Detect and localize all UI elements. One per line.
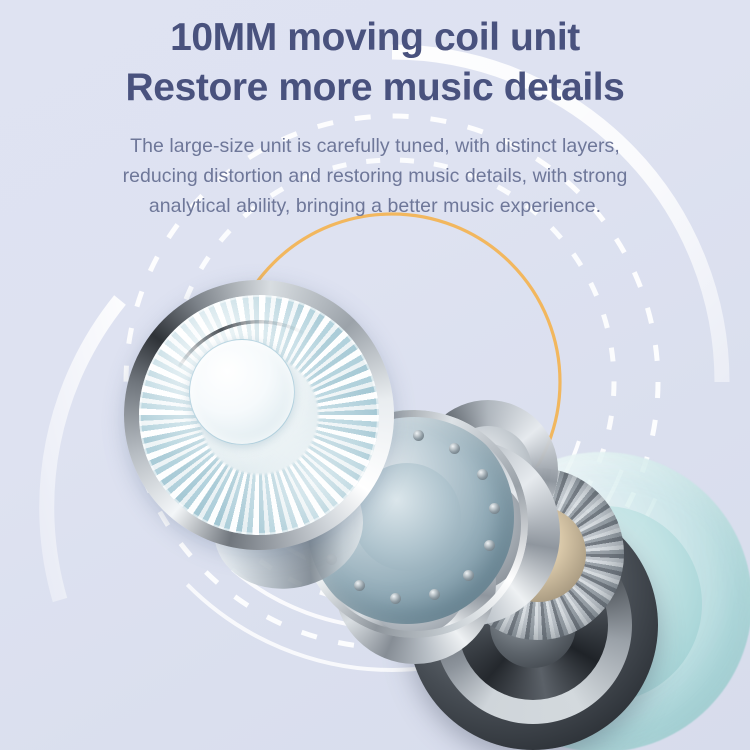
flange-hole (463, 570, 474, 581)
exploded-driver-assembly (0, 0, 750, 750)
flange-hole (477, 469, 488, 480)
flange-hole (413, 430, 424, 441)
product-feature-banner: 10MM moving coil unit Restore more music… (0, 0, 750, 750)
flange-hole (484, 540, 495, 551)
flange-hole (354, 580, 365, 591)
diaphragm-edge-shadow (125, 281, 393, 549)
